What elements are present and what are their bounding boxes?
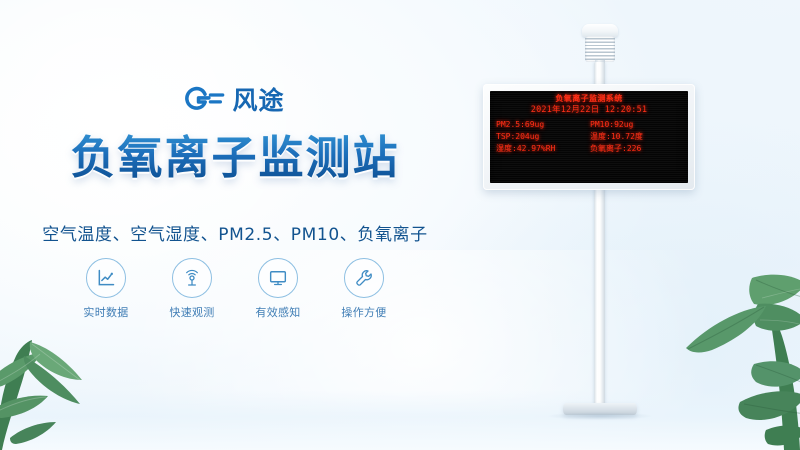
feature-item-easy-operation[interactable]: 操作方便 [334,258,394,320]
feature-list: 实时数据 快速观测 [0,258,470,320]
led-reading-pm10: PM10:92ug [590,119,682,131]
sensor-louvers [585,36,615,62]
feature-label: 实时数据 [83,304,128,320]
led-reading-humidity: 湿度:42.97%RH [496,143,555,155]
feature-item-fast-observation[interactable]: 快速观测 [162,258,222,320]
led-reading-row: TSP:204ug 温度:10.72度 [496,131,682,143]
page-title: 负氧离子监测站 [0,133,470,183]
led-display-screen: 负氧离子监测系统 2021年12月22日 12:20:51 PM2.5:69ug… [490,91,688,183]
led-reading-row: PM2.5:69ug PM10:92ug [496,119,682,131]
monitor-screen-icon [268,268,288,288]
line-chart-icon [96,268,116,288]
feature-icon-circle [344,258,384,298]
led-reading-pm25: PM2.5:69ug [496,119,544,131]
led-readings-grid: PM2.5:69ug PM10:92ug TSP:204ug 温度:10.72度… [490,119,688,156]
radar-sensor-icon [182,268,202,288]
led-reading-row: 湿度:42.97%RH 负氧离子:226 [496,143,682,155]
feature-item-effective-sensing[interactable]: 有效感知 [248,258,308,320]
copy-block: 风途 负氧离子监测站 空气温度、空气湿度、PM2.5、PM10、负氧离子 实时数… [0,0,470,450]
led-reading-tsp: TSP:204ug [496,131,539,143]
feature-label: 有效感知 [255,304,300,320]
monitoring-station: 负氧离子监测系统 2021年12月22日 12:20:51 PM2.5:69ug… [430,0,800,450]
feature-icon-circle [86,258,126,298]
feature-label: 操作方便 [341,304,386,320]
wrench-icon [354,268,374,288]
feature-label: 快速观测 [169,304,214,320]
promo-banner: 风途 负氧离子监测站 空气温度、空气湿度、PM2.5、PM10、负氧离子 实时数… [0,0,800,450]
led-reading-temperature: 温度:10.72度 [590,131,682,143]
led-display-frame: 负氧离子监测系统 2021年12月22日 12:20:51 PM2.5:69ug… [483,84,695,190]
feature-icon-circle [258,258,298,298]
led-reading-negative-oxygen-ions: 负氧离子:226 [590,143,682,155]
feature-icon-circle [172,258,212,298]
wind-g-logo-icon [185,86,225,114]
page-subtitle: 空气温度、空气湿度、PM2.5、PM10、负氧离子 [0,220,470,245]
mast-base-shadow [548,412,652,420]
led-display-title: 负氧离子监测系统 [490,95,688,103]
brand-logo: 风途 [0,86,470,114]
led-display-datetime: 2021年12月22日 12:20:51 [490,106,688,115]
brand-name: 风途 [232,88,284,113]
feature-item-realtime-data[interactable]: 实时数据 [76,258,136,320]
